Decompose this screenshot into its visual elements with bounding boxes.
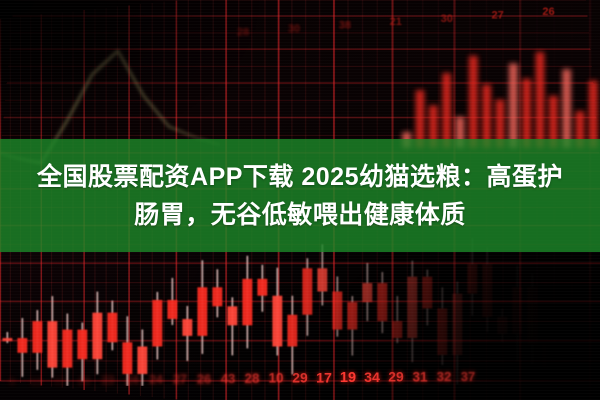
upper-right-candles: [400, 28, 600, 154]
chart-top-axis-labels: 28303821302726: [14, 2, 594, 14]
axis-label: 26: [523, 6, 574, 18]
axis-label: 30: [269, 23, 320, 35]
promo-banner-line-2: 肠胃，无谷低敏喂出健康体质: [30, 196, 570, 234]
axis-label: 30: [421, 13, 472, 25]
axis-label: 28: [218, 26, 269, 38]
promo-banner-line-1: 全国股票配资APP下载 2025幼猫选粮：高蛋护: [30, 158, 570, 196]
axis-label: [167, 30, 218, 42]
promo-banner: 全国股票配资APP下载 2025幼猫选粮：高蛋护 肠胃，无谷低敏喂出健康体质: [0, 139, 600, 252]
banner-image: 28303821302726 9131720232424272643281029…: [0, 0, 600, 400]
main-candlestick-series: [0, 236, 600, 386]
axis-label: 27: [472, 9, 523, 21]
axis-label: 38: [319, 20, 370, 32]
axis-label: 21: [370, 16, 421, 28]
promo-banner-text: 全国股票配资APP下载 2025幼猫选粮：高蛋护 肠胃，无谷低敏喂出健康体质: [30, 158, 570, 234]
